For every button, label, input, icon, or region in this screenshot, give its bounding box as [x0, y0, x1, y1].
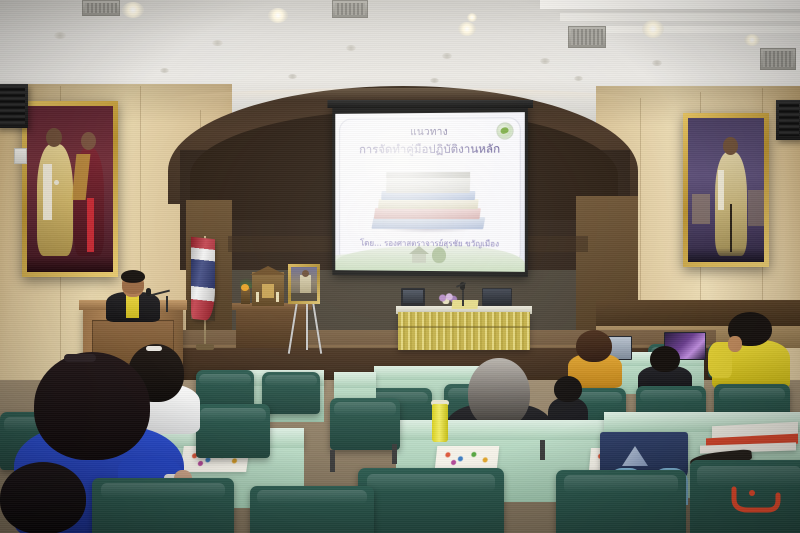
attendee-far-left-corner [0, 462, 86, 533]
podium-microphone-head [146, 288, 151, 296]
stage-laptop[interactable] [482, 288, 512, 306]
ceiling-downlight [744, 34, 760, 46]
portrait-head [723, 137, 738, 155]
chair-leg [540, 440, 545, 460]
attendee-right-yellow-polo [712, 312, 790, 384]
ceiling-air-vent [568, 26, 606, 48]
wall-mounted-loudspeaker [776, 100, 800, 140]
marigold-flower [241, 284, 249, 291]
audience-table [334, 372, 376, 388]
patterned-handout[interactable] [435, 446, 500, 470]
stage-monitor-screen [403, 290, 423, 303]
orange-curve-watermark [728, 477, 784, 519]
screen-roller-bar [327, 100, 533, 108]
yellow-document [452, 300, 479, 309]
ceiling-downlight [458, 22, 476, 36]
audience-chair[interactable] [330, 398, 400, 450]
candle [256, 292, 259, 302]
ceiling-downlight-dim [442, 53, 452, 59]
head-table-gold-skirt [398, 312, 530, 350]
shrine-inner-glow [262, 284, 274, 298]
hair-clip [146, 346, 162, 351]
ceiling-downlight-dim [346, 45, 356, 51]
chair-leg [392, 444, 397, 464]
attendee-hair [468, 358, 530, 428]
ceiling-downlight-dim [652, 60, 662, 66]
ceiling-air-vent [82, 0, 120, 16]
attendee-hair [0, 462, 86, 533]
audience-chair-foreground[interactable] [556, 470, 686, 533]
portrait-head-king [46, 128, 62, 147]
podium-microphone-stem [166, 296, 168, 312]
ceiling-air-vent [332, 0, 368, 18]
audience-chair-foreground[interactable] [92, 478, 234, 533]
presenter-face-shadow [122, 282, 144, 294]
photo-scene: แนวทาง การจัดทำคู่มือปฏิบัติงานหลัก โดย.… [0, 0, 800, 533]
framed-portrait-head [302, 270, 309, 277]
ceiling-downlight [122, 2, 144, 18]
audience-chair-foreground[interactable] [250, 486, 374, 533]
projected-slide: แนวทาง การจัดทำคู่มือปฏิบัติงานหลัก โดย.… [335, 112, 525, 272]
ceiling-downlight-dim [430, 78, 439, 83]
projection-screen: แนวทาง การจัดทำคู่มือปฏิบัติงานหลัก โดย.… [332, 103, 528, 277]
audience-chair-foreground[interactable] [358, 468, 504, 533]
ceiling-downlight [268, 8, 288, 23]
ceiling-downlight-dim [54, 32, 66, 39]
yellow-drink-tumbler[interactable] [432, 404, 448, 442]
presenter-shirt [126, 294, 139, 318]
easel-leg [306, 300, 308, 350]
royal-portrait-king-and-queen [22, 101, 118, 277]
ceiling-downlight [467, 13, 477, 22]
flag-shading [191, 237, 215, 322]
audience-chair[interactable] [262, 372, 320, 414]
attendee-hair [650, 346, 680, 372]
skirt-tie-band [398, 326, 530, 328]
hair-clip [64, 354, 96, 362]
attendee-hair [34, 352, 150, 460]
wall-switch-plate[interactable] [14, 148, 27, 164]
ceiling-downlight-dim [574, 76, 583, 81]
tote-bag-logo [622, 446, 648, 466]
attendee-hair [554, 376, 582, 402]
framed-portrait-on-easel [288, 264, 320, 304]
ceremonial-offering-table [236, 308, 308, 348]
candle [276, 292, 279, 302]
attendee-hair [576, 330, 612, 362]
ceiling-air-vent [760, 48, 796, 70]
ceiling-downlight-dim [540, 58, 550, 64]
chair-leg [330, 450, 335, 472]
ceiling-downlight-dim [212, 40, 223, 46]
royal-portrait-king [683, 113, 769, 267]
wall-mounted-loudspeaker [0, 84, 28, 128]
attendee-right-mustard-top [566, 330, 624, 382]
ceiling-downlight-dim [288, 74, 297, 79]
portrait-head-queen [81, 132, 96, 150]
attendee-hand [728, 336, 742, 352]
ceiling-downlight [642, 20, 664, 38]
audience-chair[interactable] [196, 404, 270, 458]
ceiling-downlight-dim [160, 68, 169, 73]
